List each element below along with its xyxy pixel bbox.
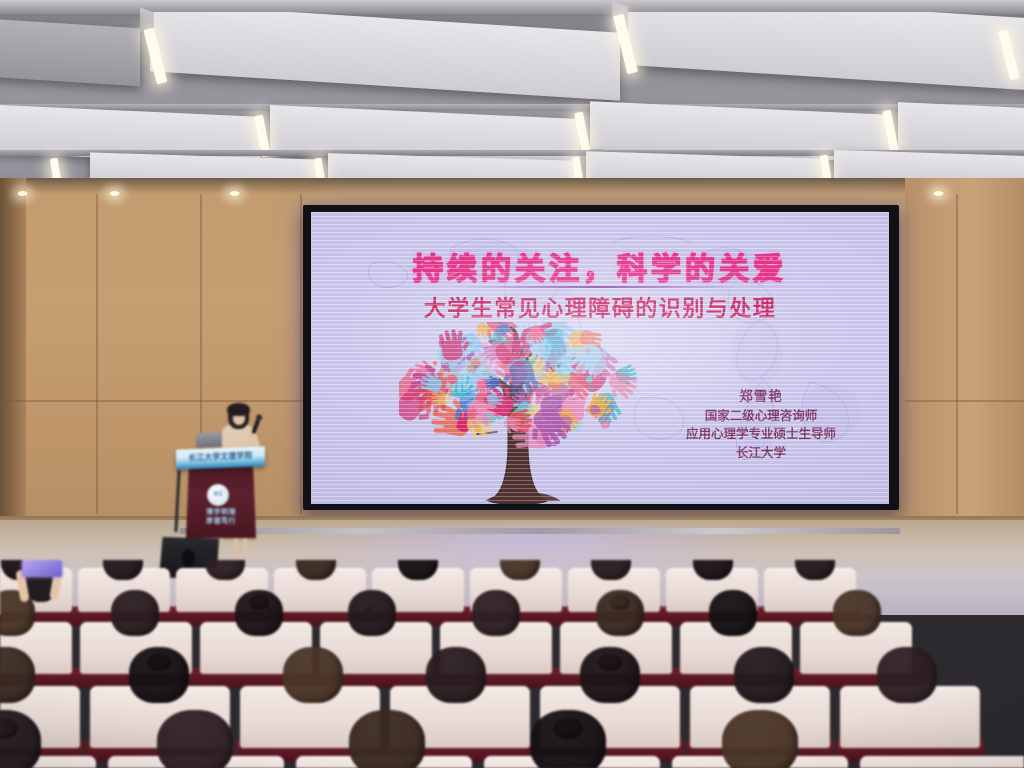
downlight [16, 190, 29, 197]
podium-motto-line2: 厚德笃行 [186, 517, 256, 526]
podium-motto: 博学明理 厚德笃行 [186, 508, 256, 527]
podium-banner: 长江大学文理学院 [176, 446, 265, 469]
slide-title: 持续的关注，科学的关爱 [311, 244, 889, 288]
audience [0, 560, 1024, 768]
audience-head [283, 647, 343, 703]
slide-subtitle: 大学生常见心理障碍的识别与处理 [311, 291, 889, 323]
podium-seal-text: 长江 [207, 491, 229, 497]
presenter-role: 应用心理学专业硕士生导师 [663, 425, 859, 444]
speaker-legs [234, 538, 248, 558]
title-divider [463, 286, 737, 288]
wall-ceiling-shadow [0, 178, 1024, 194]
podium-banner-text: 长江大学文理学院 [176, 449, 265, 465]
ceiling-panel [150, 3, 620, 101]
audience-head [734, 647, 794, 703]
ceiling-panel [0, 16, 140, 87]
audience-head [722, 710, 798, 768]
handprint-tree-graphic [399, 322, 647, 504]
presenter-credential: 国家二级心理咨询师 [663, 407, 859, 426]
audience-head [157, 710, 233, 768]
podium-seal: 长江 [207, 484, 229, 506]
downlight [228, 190, 241, 197]
audience-head [877, 647, 937, 703]
speaker-hair [227, 403, 250, 416]
attendee-phone [22, 560, 62, 577]
downlight [108, 190, 121, 197]
lecture-hall-photo: 持续的关注，科学的关爱 大学生常见心理障碍的识别与处理 郑雪艳 国家二级心理咨询… [0, 0, 1024, 768]
podium-motto-line1: 博学明理 [186, 508, 256, 517]
audience-head [833, 590, 881, 636]
hair-bun [553, 718, 583, 739]
audience-seat [860, 756, 1024, 768]
hair-bun [249, 595, 268, 610]
downlight [932, 190, 945, 197]
presenter-name: 郑雪艳 [663, 387, 859, 407]
presenter-credits: 郑雪艳 国家二级心理咨询师 应用心理学专业硕士生导师 长江大学 [663, 387, 859, 462]
hair-bun [610, 595, 629, 610]
audience-head [472, 590, 520, 636]
stage-front-trim [180, 528, 900, 534]
audience-head [709, 590, 757, 636]
presenter-affiliation: 长江大学 [663, 444, 859, 463]
presentation-screen[interactable]: 持续的关注，科学的关爱 大学生常见心理障碍的识别与处理 郑雪艳 国家二级心理咨询… [311, 212, 889, 504]
ceiling [0, 0, 1024, 186]
audience-head [426, 647, 486, 703]
audience-head [348, 590, 396, 636]
audience-head [349, 710, 425, 768]
audience-head [111, 590, 159, 636]
ceiling-panel [625, 0, 1024, 91]
